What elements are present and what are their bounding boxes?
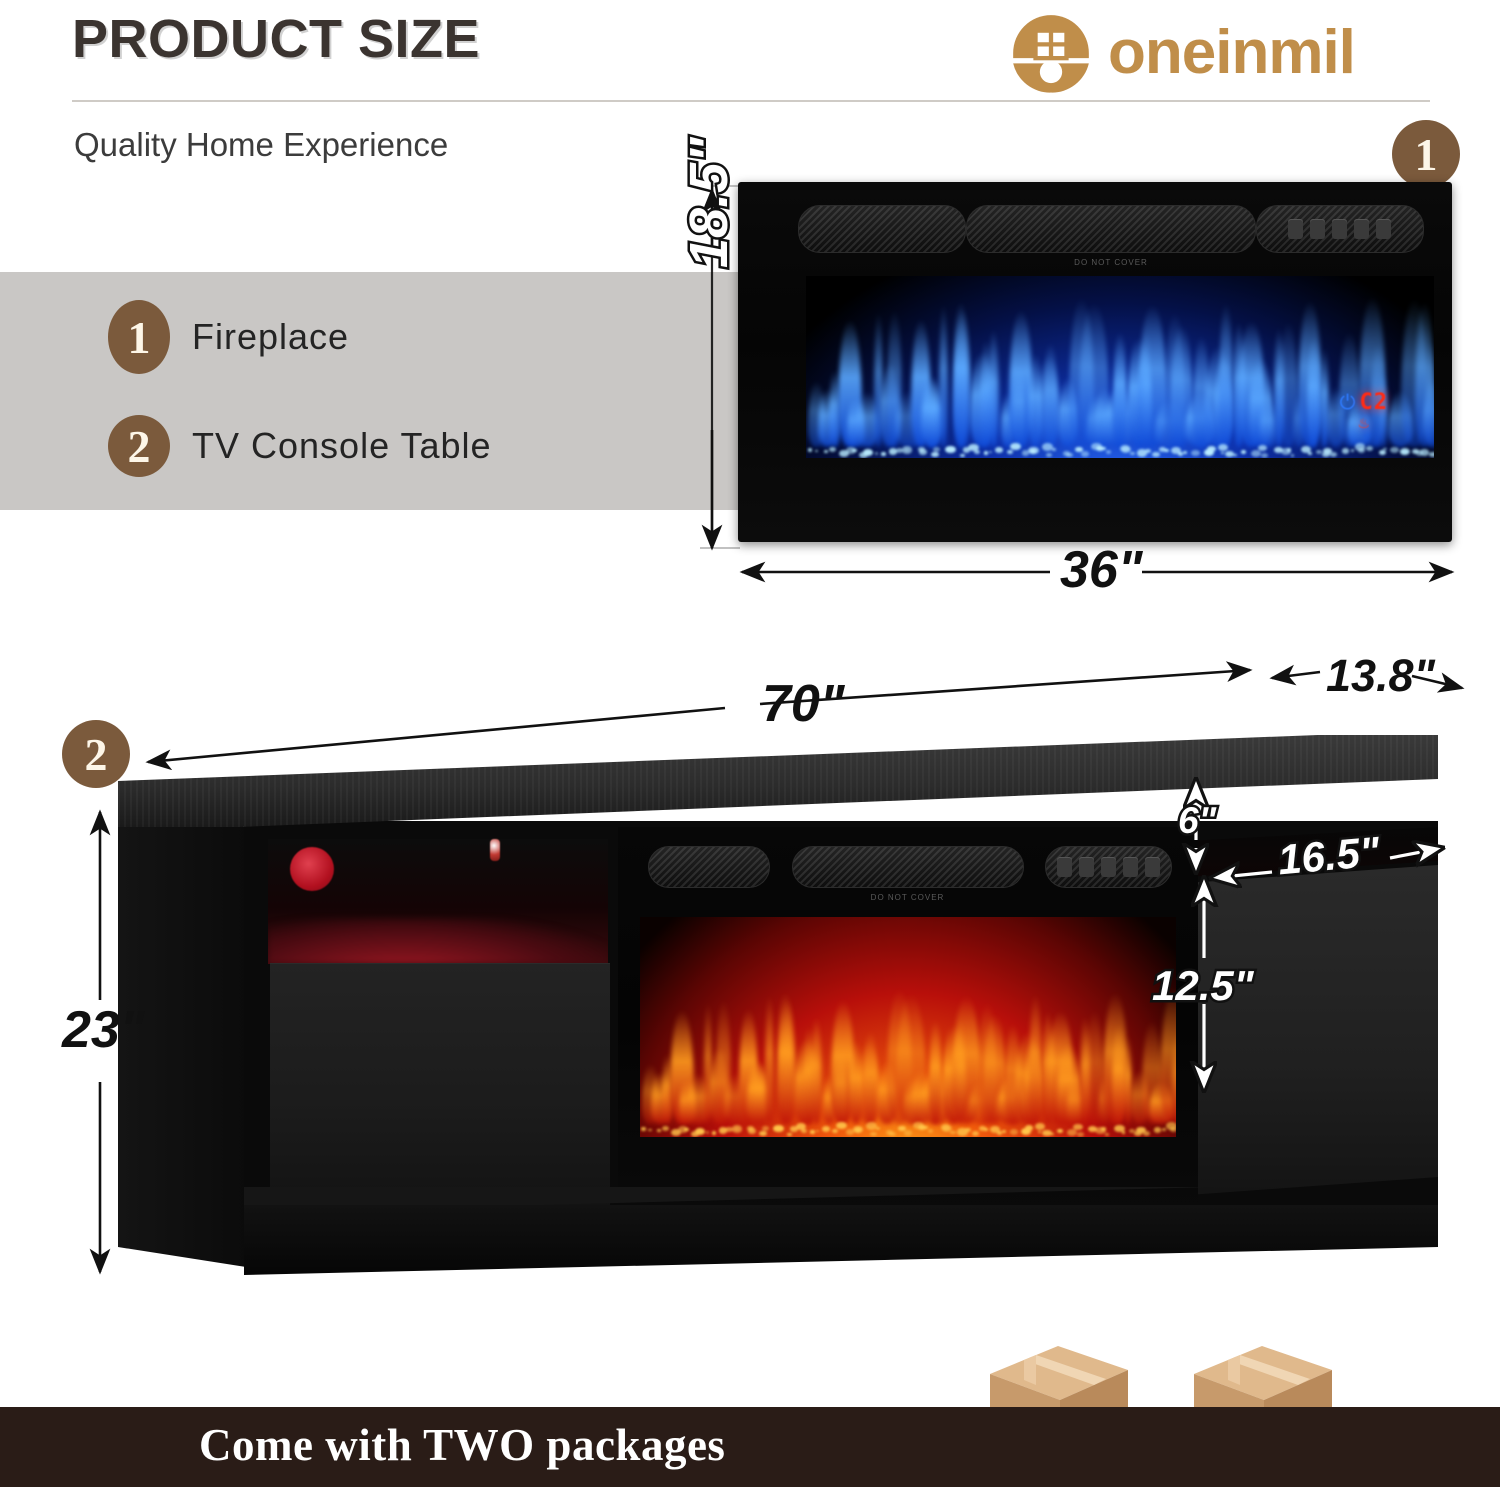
power-icon: ⏻ — [1340, 393, 1356, 413]
fireplace-flame-screen: ⏻ C2 ♨ — [806, 276, 1434, 458]
marker-fireplace: 1 — [1392, 120, 1460, 188]
console-vent-row: DO NOT COVER — [648, 845, 1172, 889]
fireplace-control-display: ⏻ C2 ♨ — [1340, 392, 1388, 430]
header-subtitle: Quality Home Experience — [74, 126, 448, 164]
header-divider — [72, 100, 1430, 102]
vent-right-icon — [1256, 205, 1424, 253]
vent-left-icon — [798, 205, 966, 253]
tv-console-unit: DO NOT COVER — [118, 735, 1438, 1295]
legend-label-console: TV Console Table — [192, 425, 492, 467]
dim-console-width: 70" — [762, 674, 845, 734]
fireplace-vent-row: DO NOT COVER — [798, 204, 1424, 254]
house-window-icon — [1008, 10, 1094, 96]
led-glow — [268, 918, 608, 964]
console-flame-screen — [640, 917, 1176, 1137]
console-plinth — [244, 1205, 1438, 1275]
dim-console-depth: 13.8" — [1326, 650, 1435, 702]
console-right-door — [1188, 865, 1438, 1195]
console-fireplace-insert: DO NOT COVER — [618, 827, 1198, 1219]
brand-wordmark: oneinmil — [1108, 10, 1355, 96]
temperature-readout: C2 — [1360, 392, 1389, 414]
console-vent-warning-label: DO NOT COVER — [793, 893, 1023, 902]
flame-indicator-icon: ♨ — [1358, 416, 1371, 430]
packaging-banner-text: Come with TWO packages — [199, 1419, 725, 1471]
fireplace-unit: DO NOT COVER ⏻ C2 ♨ — [738, 182, 1452, 542]
legend-item-console: 2 TV Console Table — [108, 415, 492, 477]
led-light-dot — [290, 847, 334, 891]
console-top-woodgrain — [118, 735, 1438, 827]
vent-warning-label: DO NOT COVER — [967, 258, 1254, 267]
console-ember-bed — [640, 1119, 1176, 1137]
console-vent-left-icon — [648, 846, 770, 888]
led-light-pin — [490, 839, 500, 861]
console-vent-center-icon: DO NOT COVER — [792, 846, 1024, 888]
legend-item-fireplace: 1 Fireplace — [108, 300, 349, 374]
dim-opening-height: 12.5" — [1152, 962, 1254, 1010]
brand-logo: oneinmil — [1008, 10, 1355, 96]
console-flame-animation — [640, 917, 1176, 1137]
dim-fireplace-width: 36" — [1060, 540, 1143, 600]
dim-opening-width: 16.5" — [1276, 828, 1381, 885]
console-left-door — [270, 963, 610, 1216]
infographic-root: PRODUCT SIZE Quality Home Experience one… — [0, 0, 1500, 1487]
page-title: PRODUCT SIZE — [72, 8, 480, 70]
legend-label-fireplace: Fireplace — [192, 316, 349, 358]
vent-center-icon: DO NOT COVER — [966, 205, 1255, 253]
legend-badge-1: 1 — [108, 300, 170, 374]
dim-fireplace-height: 18.5" — [678, 137, 740, 268]
ember-bed — [806, 440, 1434, 458]
dim-shelf-height: 6" — [1178, 800, 1216, 842]
flame-animation — [806, 276, 1434, 458]
console-vent-right-icon — [1045, 846, 1172, 888]
dim-console-height: 23" — [62, 1000, 145, 1060]
legend-badge-2: 2 — [108, 415, 170, 477]
